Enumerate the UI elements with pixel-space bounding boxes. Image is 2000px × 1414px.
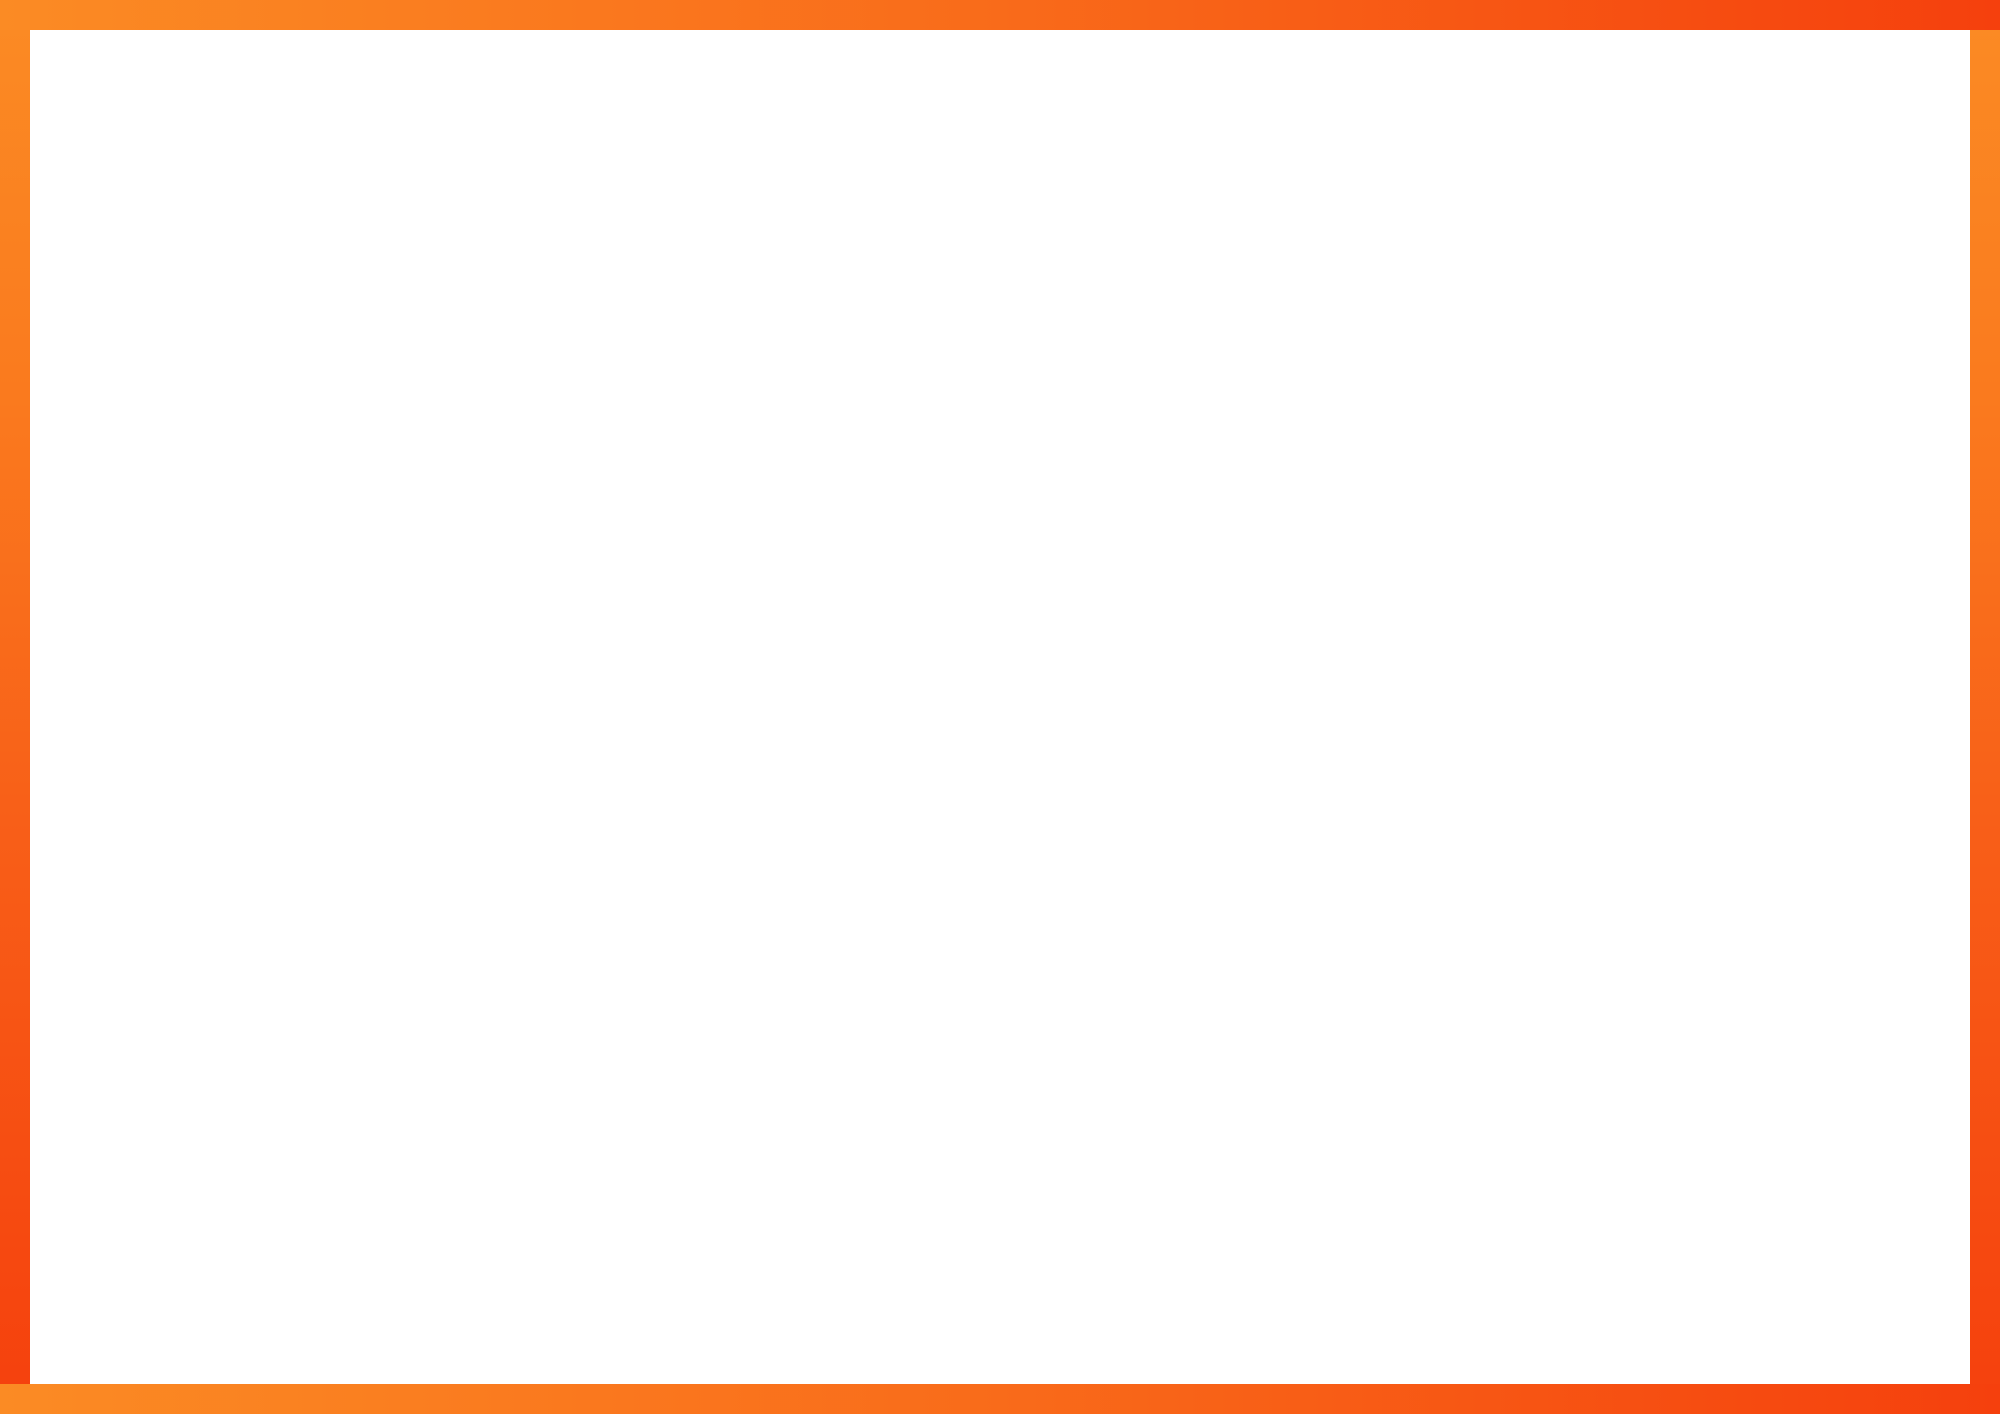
bottom-border-accent xyxy=(0,1384,2000,1414)
slide: Vision 目指す方向性 「世界への想いを持つ若者」が次なる一歩を 踏み出すた… xyxy=(0,0,2000,1414)
slide-canvas xyxy=(30,30,1970,1384)
left-border-accent xyxy=(0,0,30,1414)
top-border-accent xyxy=(0,0,2000,30)
right-border-accent xyxy=(1970,0,2000,1414)
